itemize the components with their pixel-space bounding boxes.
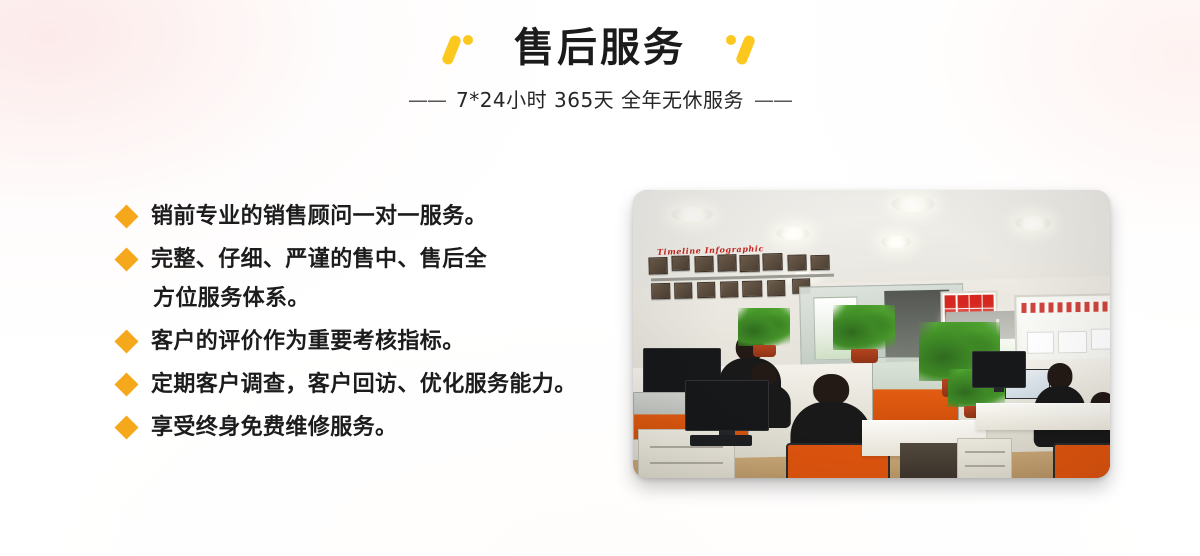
diamond-bullet-icon xyxy=(114,372,138,396)
subtitle-dash-left: —— xyxy=(408,90,446,110)
keyboard xyxy=(690,435,752,447)
potted-plant xyxy=(738,308,790,357)
desk-base xyxy=(900,443,957,478)
potted-plant xyxy=(833,305,895,363)
page-subtitle: 7*24小时 365天 全年无休服务 xyxy=(456,90,744,110)
list-item-label: 享受终身免费维修服务。 xyxy=(151,413,397,442)
quote-mark-left-icon xyxy=(440,28,480,68)
service-feature-list: 销前专业的销售顾问一对一服务。 完整、仔细、严谨的售中、售后全 方位服务体系。 … xyxy=(118,202,638,456)
list-item: 客户的评价作为重要考核指标。 xyxy=(118,327,638,357)
title-row: 售后服务 xyxy=(0,18,1200,78)
cabinet xyxy=(957,438,1011,478)
list-item: 享受终身免费维修服务。 xyxy=(118,413,638,443)
office-chair xyxy=(1053,443,1110,478)
diamond-bullet-icon xyxy=(114,329,138,353)
subtitle-dash-right: —— xyxy=(754,90,792,110)
monitor xyxy=(685,380,768,431)
list-item-label: 定期客户调查，客户回访、优化服务能力。 xyxy=(151,370,577,399)
office-photo: Timeline Infographic xyxy=(633,190,1110,478)
diamond-bullet-icon xyxy=(114,247,138,271)
list-item: 定期客户调查，客户回访、优化服务能力。 xyxy=(118,370,638,400)
list-item: 销前专业的销售顾问一对一服务。 xyxy=(118,202,638,232)
list-item-label: 销前专业的销售顾问一对一服务。 xyxy=(151,202,487,231)
monitor xyxy=(972,351,1026,388)
ceiling-light-icon xyxy=(891,196,935,212)
list-item-label: 方位服务体系。 xyxy=(153,284,310,313)
list-item-label: 客户的评价作为重要考核指标。 xyxy=(151,327,465,356)
ceiling-light-icon xyxy=(881,236,911,248)
ceiling-light-icon xyxy=(1015,216,1051,230)
diamond-bullet-icon xyxy=(114,204,138,228)
subtitle-row: —— 7*24小时 365天 全年无休服务 —— xyxy=(0,90,1200,110)
quote-mark-right-icon xyxy=(720,28,760,68)
page-title: 售后服务 xyxy=(514,28,686,68)
whiteboard-header-text xyxy=(1021,300,1110,312)
poster-canvas: 售后服务 —— 7*24小时 365天 全年无休服务 —— 销前专业的销售顾问一… xyxy=(0,0,1200,556)
desk xyxy=(976,403,1110,430)
list-item: 完整、仔细、严谨的售中、售后全 xyxy=(118,245,638,275)
list-item-label: 完整、仔细、严谨的售中、售后全 xyxy=(151,245,487,274)
diamond-bullet-icon xyxy=(114,415,138,439)
office-photo-content: Timeline Infographic xyxy=(633,190,1110,478)
list-item-continuation: 方位服务体系。 xyxy=(118,284,638,314)
